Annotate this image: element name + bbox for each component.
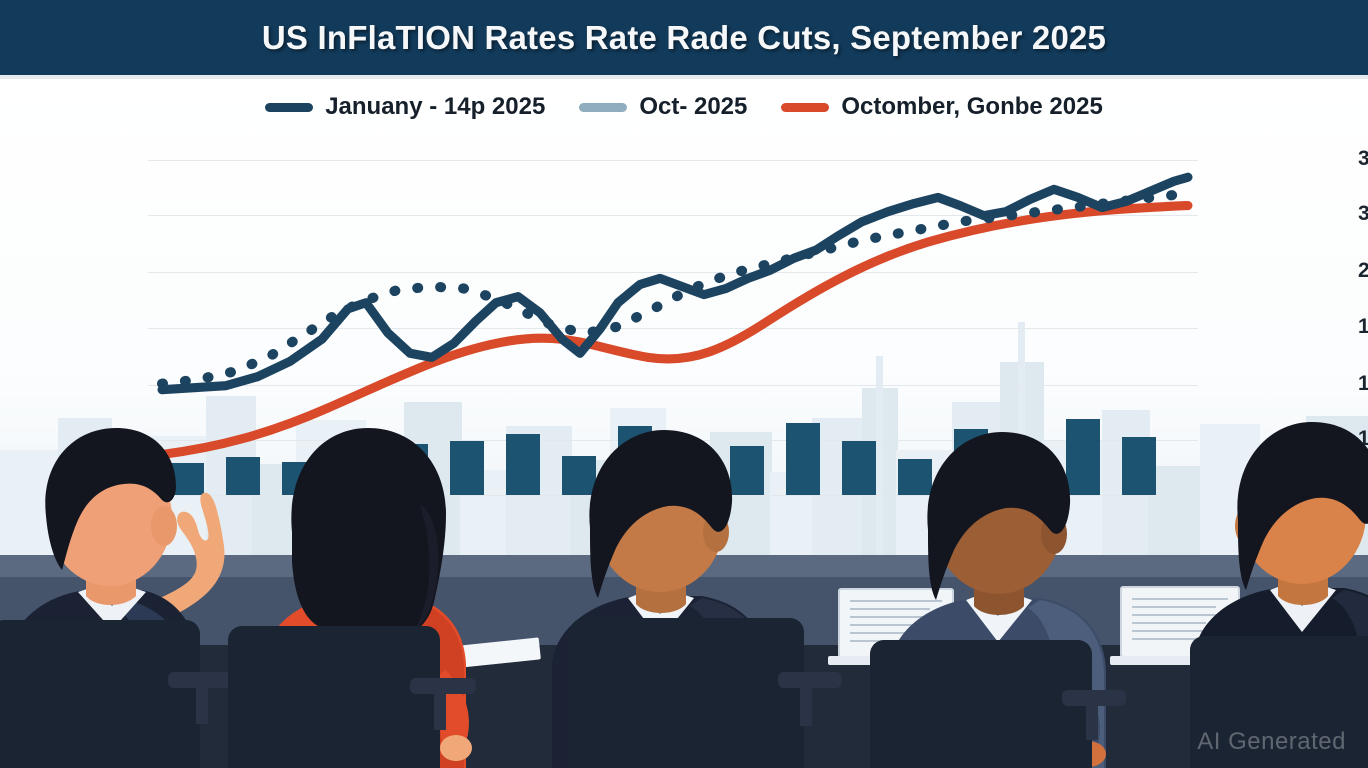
header-banner: US InFlaTION Rates Rate Rade Cuts, Septe…: [0, 0, 1368, 75]
y-tick-right: 1.50%: [1358, 372, 1368, 396]
chair-post: [800, 684, 812, 726]
screenshot-stage: US InFlaTION Rates Rate Rade Cuts, Septe…: [0, 0, 1368, 768]
legend-item-label: Octomber, Gonbe 2025: [841, 93, 1102, 121]
office-chair[interactable]: [228, 626, 440, 768]
legend-swatch-red-icon: [781, 103, 829, 112]
office-chair[interactable]: [570, 618, 804, 768]
legend-item[interactable]: Januany - 14p 2025: [265, 93, 545, 121]
y-tick-right: 2.50%: [1358, 259, 1368, 283]
chair-post: [196, 684, 208, 724]
chart-legend: Januany - 14p 2025 Oct- 2025 Octomber, G…: [0, 93, 1368, 121]
office-chair[interactable]: [870, 640, 1092, 768]
legend-swatch-lightblue-icon: [579, 103, 627, 112]
page-title: US InFlaTION Rates Rate Rade Cuts, Septe…: [262, 19, 1106, 57]
legend-item-label: Januany - 14p 2025: [325, 93, 545, 121]
chair-post: [1086, 702, 1098, 740]
y-tick-right: 3.00%: [1358, 202, 1368, 226]
legend-item[interactable]: Oct- 2025: [579, 93, 747, 121]
y-tick-right: 1.00%: [1358, 315, 1368, 339]
chair-post: [434, 690, 446, 730]
y-tick-right: 3.50%: [1358, 147, 1368, 171]
legend-item-label: Oct- 2025: [639, 93, 747, 121]
legend-swatch-navy-icon: [265, 103, 313, 112]
office-chair[interactable]: [0, 620, 200, 768]
watermark-label: AI Generated: [1197, 728, 1346, 756]
legend-item[interactable]: Octomber, Gonbe 2025: [781, 93, 1102, 121]
